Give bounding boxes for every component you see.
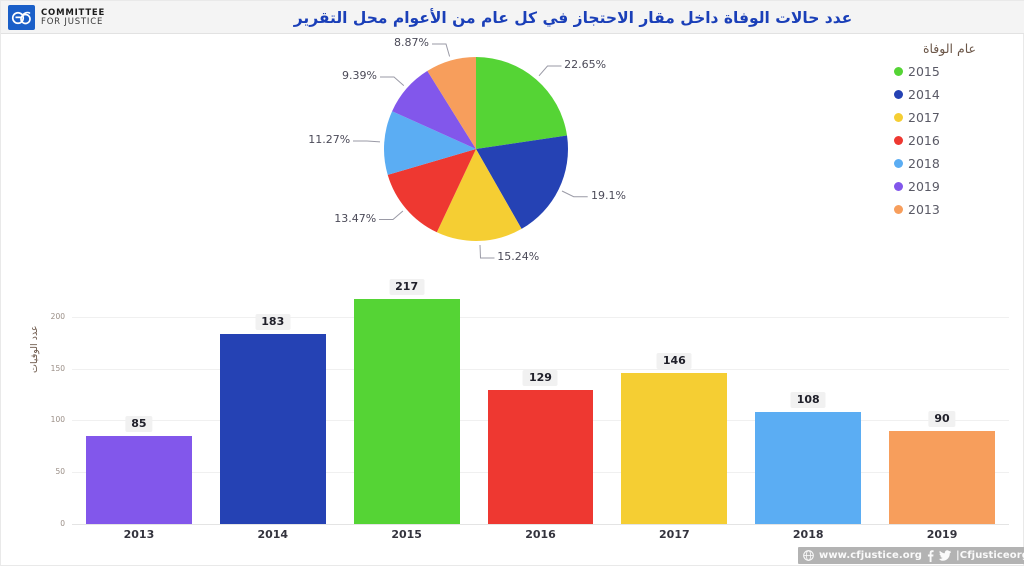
legend-item-2013[interactable]: 2013: [894, 198, 1014, 221]
legend-item-label: 2014: [908, 87, 940, 102]
pie-label-2015: 22.65%: [564, 58, 606, 71]
bar-2013[interactable]: [86, 436, 192, 524]
y-tick-label: 200: [39, 312, 65, 321]
footer-bar[interactable]: www.cfjustice.org |Cfjusticeorg: [798, 547, 1024, 564]
legend-item-2016[interactable]: 2016: [894, 129, 1014, 152]
legend-item-2019[interactable]: 2019: [894, 175, 1014, 198]
bar-value-label: 108: [791, 392, 826, 408]
pie-label-2017: 15.24%: [497, 250, 539, 263]
bar-column-2019[interactable]: 90: [889, 296, 995, 524]
legend-item-label: 2013: [908, 202, 940, 217]
pie-label-2016: 13.47%: [1, 212, 376, 225]
logo-line-2: FOR JUSTICE: [41, 18, 105, 27]
pie-leader-line: [478, 243, 499, 262]
x-tick-label-2014: 2014: [233, 528, 313, 541]
legend-item-2015[interactable]: 2015: [894, 60, 1014, 83]
logo-wordmark: COMMITTEE FOR JUSTICE: [41, 9, 105, 27]
legend-swatch-icon: [894, 90, 903, 99]
bar-column-2016[interactable]: 129: [488, 296, 594, 524]
facebook-icon[interactable]: [927, 550, 934, 562]
bar-column-2014[interactable]: 183: [220, 296, 326, 524]
bar-column-2013[interactable]: 85: [86, 296, 192, 524]
y-tick-label: 50: [39, 467, 65, 476]
x-tick-label-2013: 2013: [99, 528, 179, 541]
pie-leader-line: [351, 139, 384, 146]
bar-column-2017[interactable]: 146: [621, 296, 727, 524]
x-tick-label-2018: 2018: [768, 528, 848, 541]
bars-area: 8518321712914610890: [72, 296, 1009, 524]
legend-swatch-icon: [894, 113, 903, 122]
y-tick-label: 0: [39, 519, 65, 528]
pie-chart-panel: 22.65%19.1%15.24%13.47%11.27%9.39%8.87%: [1, 34, 881, 289]
legend-item-label: 2017: [908, 110, 940, 125]
x-tick-label-2016: 2016: [501, 528, 581, 541]
bar-2018[interactable]: [755, 412, 861, 524]
pie-label-2013: 8.87%: [1, 36, 429, 49]
legend-item-2017[interactable]: 2017: [894, 106, 1014, 129]
footer-website[interactable]: www.cfjustice.org: [819, 550, 922, 561]
legend: عام الوفاة 2015201420172016201820192013: [894, 41, 1014, 221]
y-tick-label: 100: [39, 415, 65, 424]
bar-2017[interactable]: [621, 373, 727, 524]
chart-page: COMMITTEE FOR JUSTICE عدد حالات الوفاة د…: [0, 0, 1024, 566]
bar-value-label: 183: [255, 314, 290, 330]
bar-column-2018[interactable]: 108: [755, 296, 861, 524]
page-header: COMMITTEE FOR JUSTICE عدد حالات الوفاة د…: [1, 1, 1024, 34]
cfj-monogram-icon: [8, 5, 35, 30]
y-axis-title: عدد الوفيات: [29, 325, 40, 373]
legend-item-label: 2018: [908, 156, 940, 171]
legend-swatch-icon: [894, 182, 903, 191]
legend-item-label: 2019: [908, 179, 940, 194]
legend-swatch-icon: [894, 136, 903, 145]
legend-item-label: 2015: [908, 64, 940, 79]
twitter-icon[interactable]: [939, 550, 951, 561]
legend-swatch-icon: [894, 159, 903, 168]
x-tick-label-2019: 2019: [902, 528, 982, 541]
globe-icon: [803, 550, 814, 561]
pie-label-2014: 19.1%: [591, 189, 626, 202]
pie-slice-2015[interactable]: [476, 57, 567, 149]
y-tick-label: 150: [39, 364, 65, 373]
legend-items: 2015201420172016201820192013: [894, 60, 1014, 221]
bar-value-label: 217: [389, 279, 424, 295]
legend-title: عام الوفاة: [894, 41, 976, 56]
legend-swatch-icon: [894, 67, 903, 76]
cfj-logo[interactable]: COMMITTEE FOR JUSTICE: [8, 4, 148, 31]
footer-social[interactable]: |Cfjusticeorg: [956, 550, 1024, 561]
x-axis-line: [72, 524, 1009, 525]
bar-2015[interactable]: [354, 299, 460, 524]
legend-item-label: 2016: [908, 133, 940, 148]
bar-column-2015[interactable]: 217: [354, 296, 460, 524]
legend-item-2014[interactable]: 2014: [894, 83, 1014, 106]
pie-chart[interactable]: [383, 56, 569, 242]
legend-swatch-icon: [894, 205, 903, 214]
x-tick-label-2015: 2015: [367, 528, 447, 541]
bar-value-label: 129: [523, 370, 558, 386]
bar-2019[interactable]: [889, 431, 995, 524]
bar-value-label: 90: [928, 411, 955, 427]
bar-value-label: 146: [657, 353, 692, 369]
pie-label-2018: 11.27%: [1, 133, 350, 146]
bar-value-label: 85: [125, 416, 152, 432]
page-title: عدد حالات الوفاة داخل مقار الاحتجاز في ك…: [1, 1, 1024, 34]
pie-label-2019: 9.39%: [1, 69, 377, 82]
x-tick-label-2017: 2017: [634, 528, 714, 541]
legend-item-2018[interactable]: 2018: [894, 152, 1014, 175]
bar-2014[interactable]: [220, 334, 326, 524]
bar-2016[interactable]: [488, 390, 594, 524]
